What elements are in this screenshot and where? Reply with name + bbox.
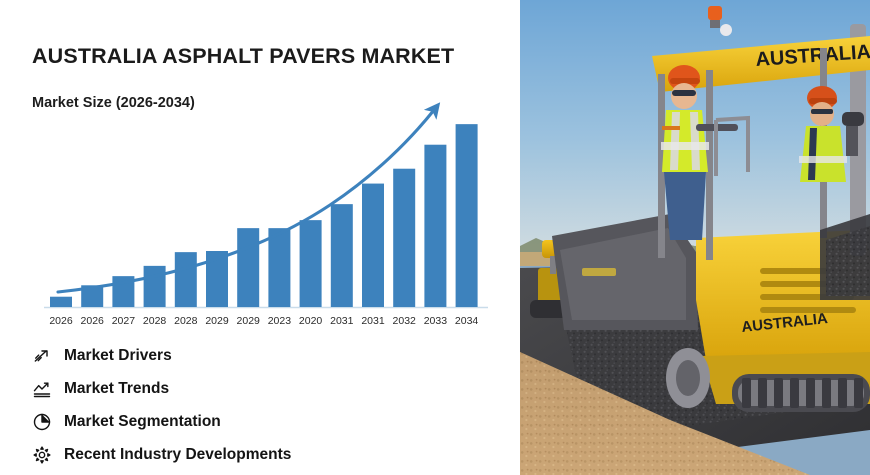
crawler-track xyxy=(732,374,870,412)
x-tick-label: 2033 xyxy=(424,315,448,327)
x-tick-label: 2034 xyxy=(455,315,479,327)
x-tick-label: 2028 xyxy=(143,315,167,327)
chart-svg: 2026202620272028202820292029202320202031… xyxy=(0,0,520,340)
x-axis-tick-labels: 2026202620272028202820292029202320202031… xyxy=(49,315,478,327)
x-tick-label: 2026 xyxy=(49,315,73,327)
bar xyxy=(456,124,478,307)
feature-item[interactable]: Recent Industry Developments xyxy=(31,438,491,471)
hero-photo: AUSTRALIA xyxy=(520,0,870,475)
feature-label: Recent Industry Developments xyxy=(64,446,291,464)
x-tick-label: 2029 xyxy=(237,315,261,327)
bar xyxy=(362,184,384,307)
x-tick-label: 2028 xyxy=(174,315,198,327)
x-tick-label: 2032 xyxy=(393,315,417,327)
x-tick-label: 2027 xyxy=(112,315,136,327)
pie-chart-icon xyxy=(31,411,53,433)
feature-label: Market Drivers xyxy=(64,347,172,365)
growth-arrow-icon xyxy=(31,345,53,367)
feature-label: Market Trends xyxy=(64,380,169,398)
bar xyxy=(331,204,353,307)
infographic-canvas: AUSTRALIA ASPHALT PAVERS MARKET Market S… xyxy=(0,0,870,475)
bar xyxy=(237,228,259,307)
line-chart-icon xyxy=(31,378,53,400)
bar xyxy=(144,266,166,307)
left-content-panel: AUSTRALIA ASPHALT PAVERS MARKET Market S… xyxy=(0,0,520,475)
control-pedestal xyxy=(842,112,864,126)
x-tick-label: 2020 xyxy=(299,315,323,327)
x-tick-label: 2031 xyxy=(361,315,385,327)
feature-item[interactable]: Market Trends xyxy=(31,372,491,405)
feature-item[interactable]: Market Segmentation xyxy=(31,405,491,438)
bars-group xyxy=(50,124,478,307)
bar xyxy=(424,145,446,307)
gear-icon xyxy=(31,444,53,466)
feature-item[interactable]: Market Drivers xyxy=(31,339,491,372)
x-tick-label: 2023 xyxy=(268,315,292,327)
market-size-bar-chart: 2026202620272028202820292029202320202031… xyxy=(0,0,520,340)
photo-illustration: AUSTRALIA xyxy=(520,0,870,475)
x-tick-label: 2031 xyxy=(330,315,354,327)
feature-list: Market DriversMarket TrendsMarket Segmen… xyxy=(31,339,491,471)
bar xyxy=(268,228,290,307)
warning-beacon xyxy=(708,6,722,20)
bar xyxy=(300,220,322,307)
bar xyxy=(175,252,197,307)
x-tick-label: 2026 xyxy=(81,315,105,327)
bar xyxy=(50,297,72,307)
bar xyxy=(393,169,415,307)
feature-label: Market Segmentation xyxy=(64,413,221,431)
x-tick-label: 2029 xyxy=(205,315,229,327)
